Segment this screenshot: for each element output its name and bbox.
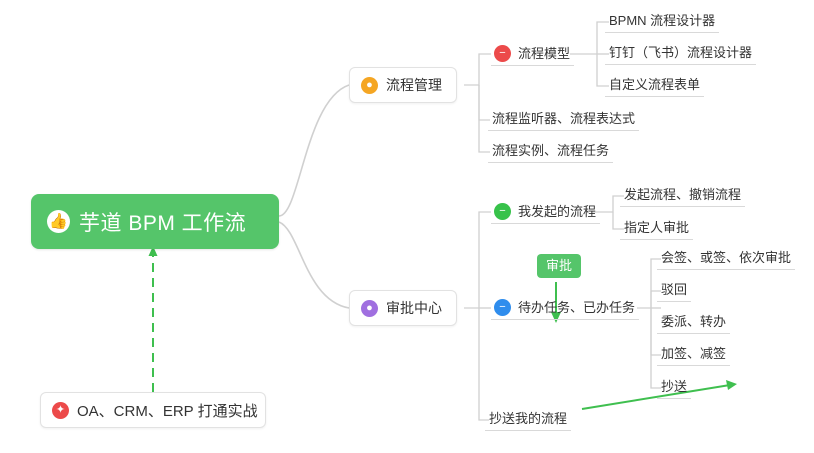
leaf-bpmn-designer[interactable]: BPMN 流程设计器 [605, 13, 719, 33]
callout-integration-practice[interactable]: ✦ OA、CRM、ERP 打通实战 [40, 392, 266, 428]
thumbs-up-icon: 👍 [47, 210, 70, 233]
minus-circle-icon: − [494, 203, 511, 220]
node-todo-done-tasks-label: 待办任务、已办任务 [518, 299, 635, 316]
minus-circle-icon: − [494, 299, 511, 316]
branch-node-process-management[interactable]: ● 流程管理 [349, 67, 457, 103]
mail-icon: ● [361, 300, 378, 317]
node-process-model-label: 流程模型 [518, 45, 570, 62]
root-node[interactable]: 👍 芋道 BPM 工作流 [31, 194, 279, 249]
leaf-delegate-transfer[interactable]: 委派、转办 [657, 314, 730, 334]
node-my-started-processes[interactable]: − 我发起的流程 [491, 203, 600, 224]
leaf-reject[interactable]: 驳回 [657, 282, 691, 302]
leaf-listener-expression[interactable]: 流程监听器、流程表达式 [488, 111, 639, 131]
branch-node-label: 审批中心 [386, 298, 442, 318]
branch-node-label: 流程管理 [386, 75, 442, 95]
leaf-assign-approver[interactable]: 指定人审批 [620, 220, 693, 240]
leaf-dingtalk-designer[interactable]: 钉钉（飞书）流程设计器 [605, 45, 756, 65]
leaf-instance-task[interactable]: 流程实例、流程任务 [488, 143, 613, 163]
branch-node-approval-center[interactable]: ● 审批中心 [349, 290, 457, 326]
callout-label: OA、CRM、ERP 打通实战 [77, 400, 258, 421]
location-pin-icon: ● [361, 77, 378, 94]
annotation-approval: 审批 [537, 254, 581, 278]
node-my-started-processes-label: 我发起的流程 [518, 203, 596, 220]
node-todo-done-tasks[interactable]: − 待办任务、已办任务 [491, 299, 639, 320]
leaf-add-remove-sign[interactable]: 加签、减签 [657, 346, 730, 366]
minus-circle-icon: − [494, 45, 511, 62]
leaf-custom-form[interactable]: 自定义流程表单 [605, 77, 704, 97]
leaf-countersign[interactable]: 会签、或签、依次审批 [657, 250, 795, 270]
leaf-cc[interactable]: 抄送 [657, 379, 691, 399]
mindmap-canvas: 👍 芋道 BPM 工作流 ● 流程管理 − 流程模型 BPMN 流程设计器 钉钉… [0, 0, 814, 453]
root-node-label: 芋道 BPM 工作流 [79, 207, 246, 237]
star-circle-icon: ✦ [52, 402, 69, 419]
node-process-model[interactable]: − 流程模型 [491, 45, 574, 66]
leaf-cc-to-me-processes[interactable]: 抄送我的流程 [485, 411, 571, 431]
leaf-start-cancel-process[interactable]: 发起流程、撤销流程 [620, 187, 745, 207]
